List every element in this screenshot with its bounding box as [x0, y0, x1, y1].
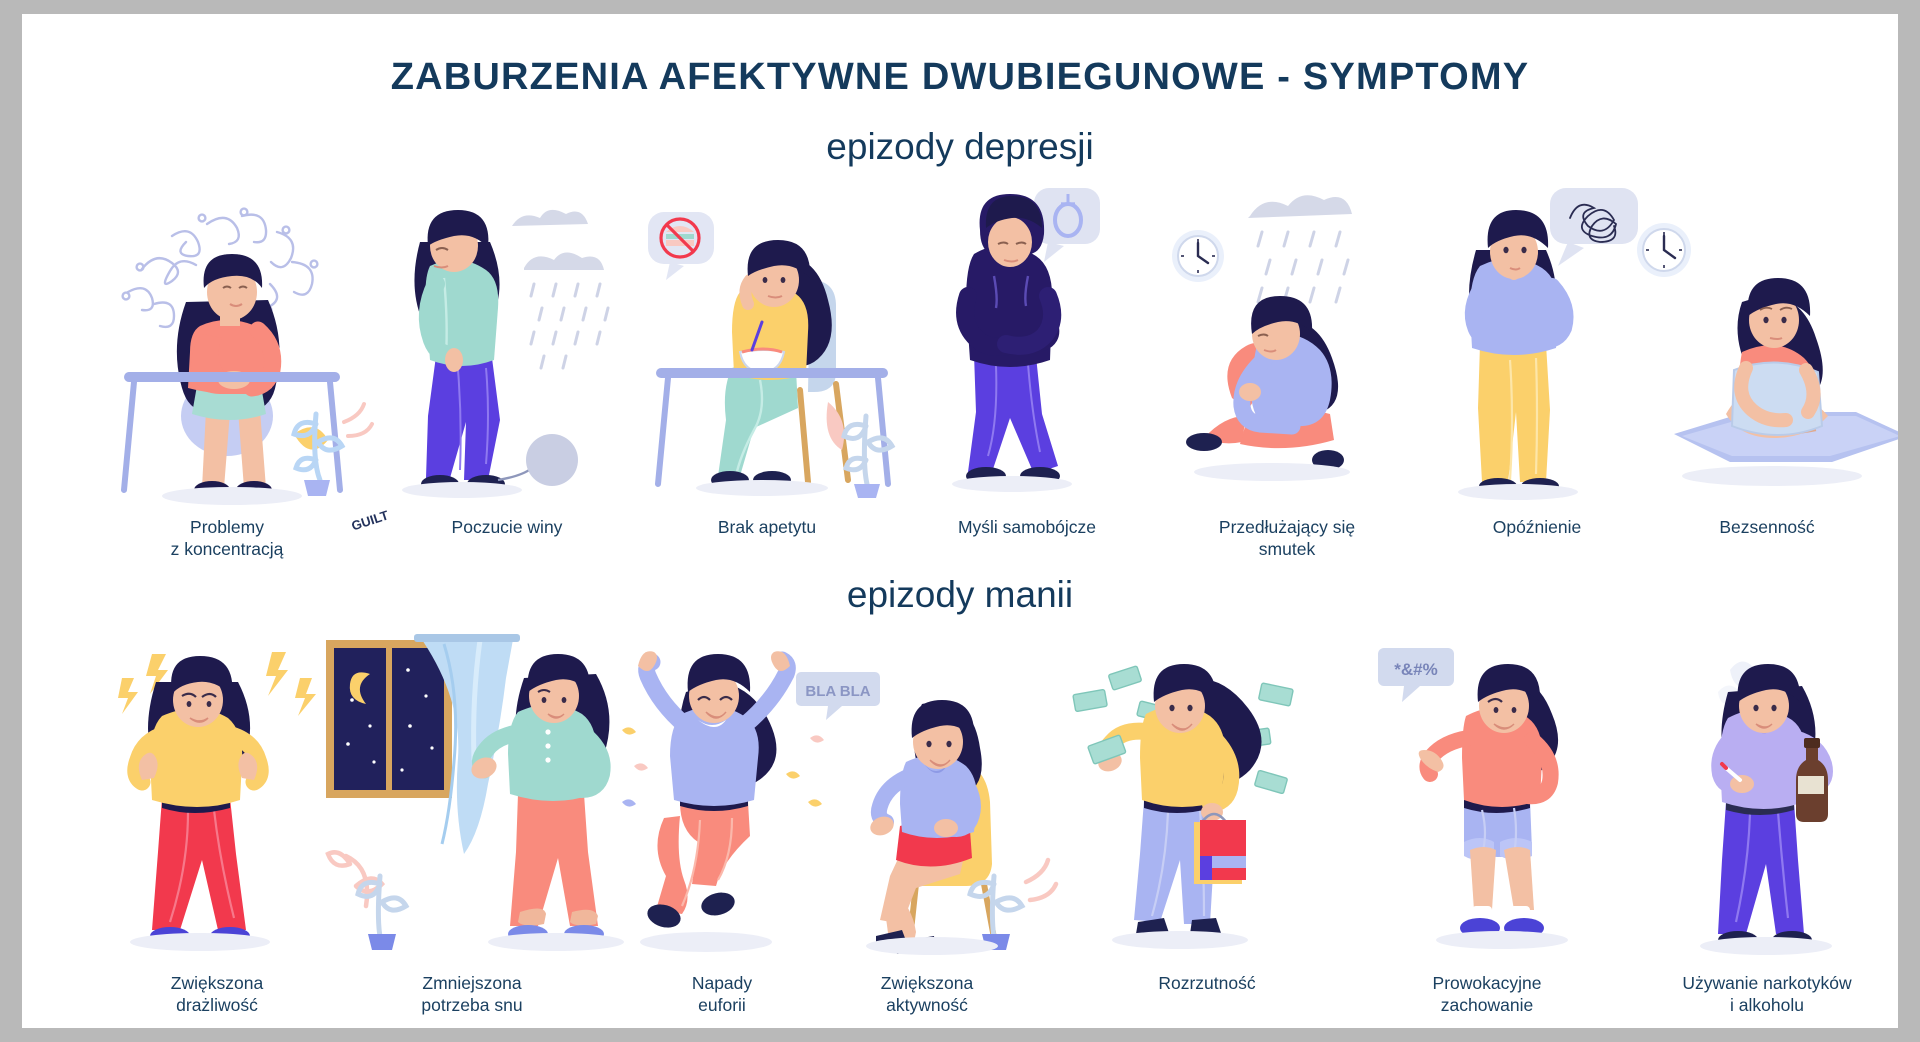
symptom-label: Zwiększona drażliwość: [102, 972, 332, 1017]
illustration-woman-on-mattress-with-pillow-clock: [1622, 184, 1898, 504]
ground-shadow: [1112, 931, 1248, 949]
ground-shadow: [1194, 463, 1350, 481]
trousers: [1718, 796, 1804, 934]
swear-bubble-icon: *&#%: [1378, 648, 1454, 702]
swear-text: *&#%: [1394, 660, 1437, 679]
guilt-ball-label: GUILT: [350, 507, 391, 533]
section-heading-mania: epizody manii: [22, 574, 1898, 616]
symptom-label: Napady euforii: [607, 972, 837, 1017]
illustration-woman-with-money-and-shopping-bag: [1062, 634, 1352, 964]
bottle-cap: [1804, 738, 1820, 748]
leg-left: [202, 410, 230, 488]
symptom-label: Używanie narkotyków i alkoholu: [1652, 972, 1882, 1017]
illustration-woman-opening-curtain-night-window: [322, 634, 622, 964]
ground-shadow: [402, 482, 522, 498]
head: [988, 217, 1032, 267]
plant-pink: [328, 852, 382, 906]
plant-pink: [1026, 860, 1056, 900]
hand-left: [1730, 775, 1754, 793]
clock-icon: [1637, 223, 1691, 277]
bottle-label: [1798, 776, 1824, 794]
arm-left: [647, 662, 686, 726]
infographic-page: ZABURZENIA AFEKTYWNE DWUBIEGUNOWE - SYMP…: [0, 0, 1920, 1042]
trousers: [1478, 338, 1550, 482]
ground-shadow: [640, 932, 772, 952]
infographic-canvas: ZABURZENIA AFEKTYWNE DWUBIEGUNOWE - SYMP…: [22, 14, 1898, 1028]
illustration-woman-at-desk-tangled-thoughts: [82, 184, 372, 504]
arm-right: [1806, 370, 1814, 412]
sock-right: [1510, 906, 1530, 918]
symptom-label: Opóźnienie: [1422, 516, 1652, 538]
symptom-card-aktywnosc[interactable]: BLA BLA: [782, 634, 1072, 964]
symptom-card-koncentracja[interactable]: Problemy z koncentracją: [82, 184, 372, 504]
symptom-label: Rozrzutność: [1092, 972, 1322, 994]
illustration-woman-walking-with-guilt-ball: GUILT: [362, 184, 652, 504]
shoe-left: [1186, 433, 1222, 451]
illustration-woman-at-table-no-food-bubble: [622, 184, 912, 504]
window-mullion: [386, 648, 392, 790]
illustration-woman-sitting-rain-cloud-clock: [1142, 184, 1432, 504]
ground-shadow: [952, 476, 1072, 492]
trousers: [968, 349, 1058, 474]
illustration-woman-pointing-swear-bubble: *&#%: [1342, 634, 1632, 964]
depression-row: Problemy z koncentracją: [22, 184, 1898, 504]
leg-left: [1470, 847, 1496, 910]
symptom-label: Zmniejszona potrzeba snu: [357, 972, 587, 1017]
ground-shadow: [1700, 937, 1832, 955]
symptom-card-poczucie-winy[interactable]: GUILT Poczucie winy: [362, 184, 652, 504]
armchair-legs: [910, 884, 994, 940]
sock-left: [1472, 906, 1492, 918]
plant-pot: [304, 480, 330, 496]
ground-shadow: [696, 480, 828, 496]
symptom-card-mysli-samobojcze[interactable]: Myśli samobójcze: [882, 184, 1172, 504]
bag-accent-blue: [1212, 856, 1246, 868]
section-heading-depression: epizody depresji: [22, 126, 1898, 168]
symptom-label: Zwiększona aktywność: [812, 972, 1042, 1017]
desk-top: [124, 372, 340, 382]
bag-accent-purple: [1200, 856, 1212, 880]
hand-right: [934, 819, 958, 837]
hand: [1239, 383, 1261, 401]
hand: [445, 348, 463, 372]
symptom-card-narkotyki[interactable]: Używanie narkotyków i alkoholu: [1622, 634, 1898, 964]
symptom-card-drazliwosc[interactable]: Zwiększona drażliwość: [72, 634, 362, 964]
chain: [498, 468, 532, 480]
symptom-label: Myśli samobójcze: [912, 516, 1142, 538]
ground-shadow: [1436, 931, 1568, 949]
symptom-card-potrzeba-snu[interactable]: Zmniejszona potrzeba snu: [322, 634, 622, 964]
illustration-hooded-figure-noose-bubble: [882, 184, 1172, 504]
leg-left-bent: [656, 816, 688, 914]
ground-shadow: [866, 937, 998, 955]
symptom-card-rozrzutnosc[interactable]: Rozrzutność: [1062, 634, 1352, 964]
page-title: ZABURZENIA AFEKTYWNE DWUBIEGUNOWE - SYMP…: [22, 56, 1898, 99]
symptom-card-bezsennosc[interactable]: Bezsenność: [1622, 184, 1898, 504]
symptom-label: Prowokacyjne zachowanie: [1372, 972, 1602, 1017]
ground-shadow: [162, 487, 302, 505]
clock-icon: [1172, 230, 1224, 282]
symptom-card-prowokacyjne[interactable]: *&#%: [1342, 634, 1632, 964]
illustration-woman-with-bottle-and-cigarette: [1622, 634, 1898, 964]
symptom-label: Bezsenność: [1652, 516, 1882, 538]
curtain-rod: [414, 634, 520, 642]
guilt-ball: [526, 434, 578, 486]
illustration-woman-in-armchair-talking: BLA BLA: [782, 634, 1072, 964]
symptom-card-smutek[interactable]: Przedłużający się smutek: [1142, 184, 1432, 504]
table-top: [656, 368, 888, 378]
plant-pot: [368, 934, 396, 950]
cigarette-ember: [1722, 764, 1726, 768]
mania-row: Zwiększona drażliwość: [22, 634, 1898, 964]
ground-shadow: [130, 933, 270, 951]
no-food-bubble-icon: [648, 212, 714, 280]
ground-shadow: [1682, 466, 1862, 486]
symptom-label: Problemy z koncentracją: [112, 516, 342, 561]
mouth: [1770, 338, 1782, 339]
symptom-label: Brak apetytu: [652, 516, 882, 538]
leg-right: [1504, 847, 1534, 910]
rain-cloud-icon: [1248, 195, 1352, 302]
rain-cloud-icon: [512, 210, 608, 368]
ground-shadow: [1458, 484, 1578, 500]
illustration-angry-woman-lightning-bolts: [72, 634, 362, 964]
bla-bla-bubble-icon: BLA BLA: [796, 672, 880, 720]
symptom-label: Poczucie winy: [392, 516, 622, 538]
bla-bla-text: BLA BLA: [805, 683, 870, 700]
symptom-label: Przedłużający się smutek: [1172, 516, 1402, 561]
shoe-right: [699, 889, 737, 919]
plant-pot: [854, 484, 880, 498]
symptom-card-brak-apetytu[interactable]: Brak apetytu: [622, 184, 912, 504]
